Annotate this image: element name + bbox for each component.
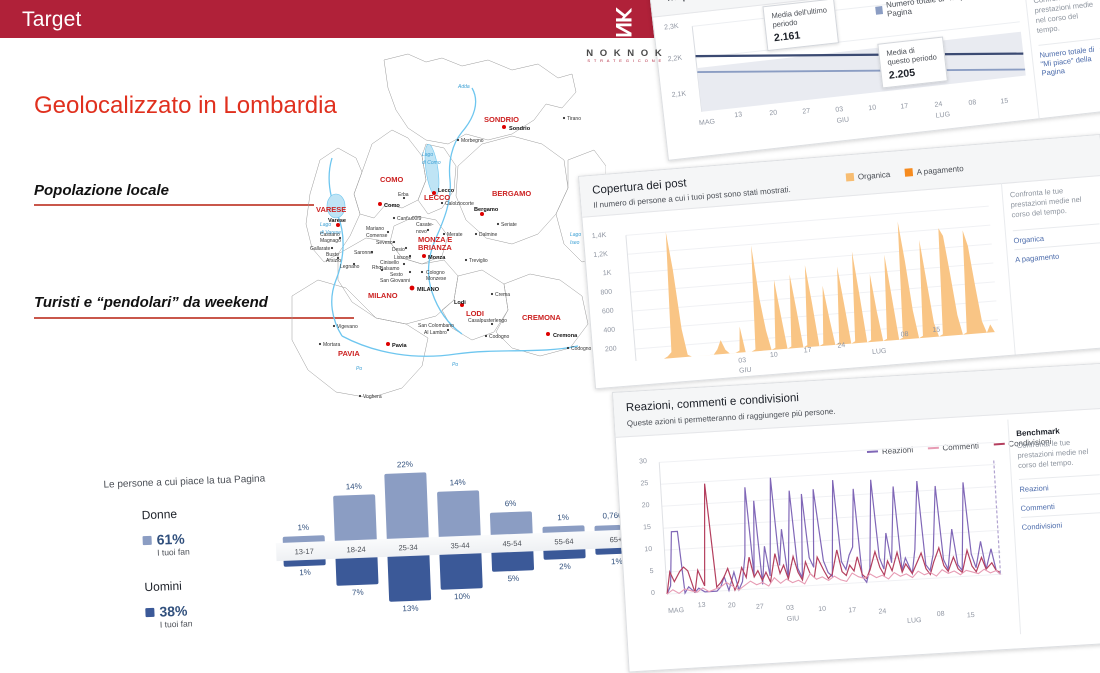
bar-donne-35-44 — [437, 490, 481, 537]
svg-text:Pavia: Pavia — [392, 343, 408, 349]
map-town-arsizio: Arsizio — [326, 258, 341, 264]
map-town-casatenovo2: novo — [416, 229, 427, 235]
svg-text:Crema: Crema — [495, 292, 510, 298]
map-town-saronno: Saronno — [354, 250, 373, 256]
reach-ytick-1400: 1,4K — [592, 232, 607, 240]
reactions-benchmark-text: Confronta le tue prestazioni medie nel c… — [1017, 436, 1100, 471]
svg-text:Monzese: Monzese — [426, 276, 447, 282]
likes-xtick-13: 13 — [734, 111, 743, 119]
map-city-bergamo: Bergamo — [474, 207, 499, 216]
card-total-likes: "Mi piace" totali della Pagina a oggi: 2… — [648, 0, 1100, 161]
bar-donne-18-24 — [333, 494, 377, 541]
bar-uomini-55-64 — [543, 549, 585, 560]
svg-text:Casate-: Casate- — [416, 222, 434, 228]
demographics-title: Le persone a cui piace la tua Pagina — [103, 473, 265, 490]
map-town-codogno: Codogno — [485, 334, 510, 340]
reach-xtick-08: 08 — [901, 331, 909, 339]
reactions-ytick-15: 15 — [643, 524, 651, 531]
map-label-adda: Adda — [457, 84, 470, 90]
reach-xtick-24: 24 — [837, 342, 845, 350]
label-donne-35-44: 14% — [437, 477, 479, 488]
map-town-magnago: Magnago — [320, 238, 341, 244]
age-tick-55-64: 55-64 — [543, 536, 585, 547]
map-town-treviglio: Treviglio — [465, 258, 488, 264]
svg-text:Dalmine: Dalmine — [479, 232, 498, 238]
map-town-legnano: Legnano — [340, 263, 360, 270]
label-donne-18-24: 14% — [333, 481, 375, 492]
reach-ytick-1200: 1,2K — [593, 251, 608, 259]
label-uomini-18-24: 7% — [337, 587, 379, 598]
reactions-benchmark-panel: Benchmark Confronta le tue prestazioni m… — [1007, 414, 1100, 634]
map-label-po-2: Po — [452, 362, 458, 368]
svg-text:Morbegno: Morbegno — [461, 138, 484, 144]
map-town-sangiovanni: San Giovanni — [380, 278, 410, 284]
page-title: Target — [22, 8, 82, 32]
reactions-chart: 30 25 20 15 10 5 0 MAG 13 20 27 03 GIU 1… — [624, 420, 1008, 657]
reach-benchmark-panel: Confronta le tue prestazioni medie nel c… — [1001, 175, 1100, 355]
label-uomini-13-17: 1% — [284, 567, 326, 578]
reach-ytick-600: 600 — [602, 308, 614, 316]
province-sondrio — [384, 54, 576, 144]
label-uomini-35-44: 10% — [441, 591, 483, 602]
map-label-varese: VARESE — [316, 205, 346, 214]
map-label-lodi: LODI — [466, 309, 484, 318]
map-town-monzese: Monzese — [426, 276, 447, 282]
map-label-cremona: CREMONA — [522, 313, 561, 322]
reactions-benchmark-row-reazioni-label: Reazioni — [1019, 484, 1049, 495]
age-tick-35-44: 35-44 — [439, 540, 481, 551]
likes-benchmark-row-0[interactable]: Numero totale di "Mi piace" della Pagina… — [1038, 37, 1100, 81]
likes-legend-swatch — [875, 6, 883, 15]
svg-text:Treviglio: Treviglio — [469, 258, 488, 264]
label-uomini-25-34: 13% — [389, 603, 431, 614]
reach-ytick-200: 200 — [605, 345, 617, 353]
map-town-tirano: Tirano — [563, 116, 581, 122]
age-tick-25-34: 25-34 — [387, 542, 429, 553]
map-city-milano: MILANO — [410, 286, 440, 293]
reach-benchmark-row-pagamento-label: A pagamento — [1015, 252, 1060, 265]
bar-donne-45-54 — [490, 511, 533, 535]
label-donne-25-34: 22% — [384, 459, 426, 470]
tooltip-media-ultimo-periodo: Media dell'ultimo periodo 2.161 — [762, 0, 839, 51]
legend-donne: Donne 61% I tuoi fan — [141, 506, 189, 558]
reactions-benchmark-row-condivisioni[interactable]: Condivisioni — [1021, 513, 1100, 537]
reactions-benchmark-row-condivisioni-label: Condivisioni — [1022, 521, 1063, 532]
map-town-sesto: Sesto — [390, 271, 411, 278]
svg-text:Varese: Varese — [328, 218, 346, 224]
label-donne-13-17: 1% — [282, 522, 324, 533]
map-town-calolziocorte: Calolziocorte — [441, 201, 474, 207]
likes-xtick-24: 24 — [934, 101, 943, 109]
map-town-seveso: Seveso — [376, 240, 395, 246]
reactions-xtick-17: 17 — [848, 607, 856, 614]
legend-uomini-label: Uomini — [144, 578, 191, 594]
map-label-milano: MILANO — [368, 291, 398, 300]
map-city-cremona: Cremona — [546, 332, 578, 339]
svg-text:Codogno: Codogno — [489, 334, 510, 340]
callout-rule-1 — [34, 204, 314, 206]
reach-benchmark-row-organica-label: Organica — [1013, 234, 1044, 245]
map-town-desio: Desio — [392, 247, 407, 253]
map-label-po: Po — [356, 366, 362, 372]
callout-popolazione-locale: Popolazione locale — [34, 182, 169, 199]
svg-text:Seriate: Seriate — [501, 222, 517, 228]
brand-logo: NK N O K N O K S T R A T E G I C O N E — [588, 6, 658, 64]
map-town-dalmine: Dalmine — [475, 232, 498, 238]
reactions-xtick-giu: GIU — [787, 615, 800, 623]
legend-uomini-swatch — [145, 608, 154, 617]
card-post-reach: Copertura dei post Il numero di persone … — [578, 134, 1100, 389]
svg-text:Lodi: Lodi — [454, 300, 466, 306]
reactions-ytick-0: 0 — [651, 590, 655, 597]
label-uomini-45-54: 5% — [492, 573, 534, 584]
reactions-benchmark-row-commenti-label: Commenti — [1020, 502, 1055, 513]
age-tick-18-24: 18-24 — [335, 544, 377, 555]
svg-text:novo: novo — [416, 229, 427, 235]
reach-ytick-400: 400 — [603, 327, 615, 335]
map-town-voghera: Voghera — [359, 394, 382, 400]
reactions-xtick-10: 10 — [818, 606, 826, 613]
map-town-crema: Crema — [491, 292, 510, 298]
map-town-vigevano: Vigevano — [333, 324, 358, 330]
svg-text:Lecco: Lecco — [438, 188, 455, 194]
likes-xtick-17: 17 — [900, 103, 909, 111]
map-city-monza: Monza — [422, 254, 446, 261]
svg-text:Sondrio: Sondrio — [509, 126, 531, 132]
bar-uomini-18-24 — [336, 557, 379, 586]
legend-uomini-sub: I tuoi fan — [160, 618, 193, 629]
bar-uomini-45-54 — [491, 551, 534, 572]
tooltip-media-questo-periodo: Media di questo periodo 2.205 — [877, 36, 948, 88]
reactions-ytick-20: 20 — [642, 502, 650, 509]
reactions-xtick-13: 13 — [698, 602, 706, 609]
svg-text:MILANO: MILANO — [417, 287, 440, 293]
reach-legend-label-pagamento: A pagamento — [916, 164, 964, 177]
likes-xtick-giu: GIU — [836, 116, 849, 124]
svg-text:Saronno: Saronno — [354, 250, 373, 256]
svg-text:Vigevano: Vigevano — [337, 324, 358, 330]
lombardia-map: .pl{font-family:"Liberation Sans",sans-s… — [276, 48, 606, 438]
map-town-codogno2: Codogno — [567, 346, 592, 352]
svg-text:Calolziocorte: Calolziocorte — [445, 201, 474, 207]
legend-donne-swatch — [143, 536, 152, 545]
map-city-como: Como — [378, 202, 400, 209]
map-label-monza-2: BRIANZA — [418, 243, 452, 252]
label-donne-55-64: 1% — [542, 512, 584, 523]
map-town-morbegno: Morbegno — [457, 138, 484, 144]
map-town-casalpusterlengo: Casalpusterlengo — [468, 318, 507, 325]
callout-turisti-pendolari: Turisti e “pendolari” da weekend — [34, 294, 268, 311]
reactions-xtick-20: 20 — [728, 602, 736, 609]
bar-uomini-35-44 — [439, 553, 482, 590]
reach-legend-label-organica: Organica — [858, 169, 891, 181]
reactions-ytick-25: 25 — [640, 480, 648, 487]
reactions-xtick-27: 27 — [756, 603, 764, 610]
likes-benchmark-text: Confronta le tue prestazioni medie nel c… — [1033, 0, 1100, 36]
svg-text:Magnago: Magnago — [320, 238, 341, 244]
map-label-bergamo: BERGAMO — [492, 189, 531, 198]
age-tick-45-54: 45-54 — [491, 538, 533, 549]
reach-xtick-giu: GIU — [739, 367, 752, 375]
svg-text:Mortara: Mortara — [323, 342, 340, 348]
label-donne-45-54: 6% — [489, 498, 531, 509]
map-label-lago-di-como-2: di Como — [422, 160, 441, 166]
reactions-xtick-mag: MAG — [668, 607, 684, 615]
reactions-ytick-5: 5 — [650, 568, 654, 575]
card-reactions: Reazioni, commenti e condivisioni Queste… — [612, 363, 1100, 673]
map-label-lago-iseo-2: Iseo — [570, 240, 580, 246]
map-label-como: COMO — [380, 175, 403, 184]
reach-benchmark-text: Confronta le tue prestazioni medie nel c… — [1010, 183, 1099, 220]
reactions-xtick-03: 03 — [786, 605, 794, 612]
bar-donne-25-34 — [384, 472, 428, 539]
svg-text:Codogno: Codogno — [571, 346, 592, 352]
map-label-sondrio: SONDRIO — [484, 115, 519, 124]
reach-ytick-800: 800 — [600, 289, 612, 297]
svg-text:Rho: Rho — [372, 265, 381, 271]
likes-xtick-15: 15 — [1000, 98, 1009, 106]
reactions-xtick-08: 08 — [937, 611, 945, 618]
bar-uomini-25-34 — [387, 555, 431, 602]
reach-xtick-03: 03 — [738, 357, 746, 365]
likes-xtick-20: 20 — [769, 109, 778, 117]
map-label-lago-iseo: Lago — [570, 232, 581, 238]
svg-text:Monza: Monza — [428, 255, 446, 261]
svg-text:Comense: Comense — [366, 233, 388, 239]
logo-mark: NK — [612, 8, 634, 38]
label-uomini-55-64: 2% — [544, 561, 586, 572]
reactions-xtick-lug: LUG — [907, 617, 922, 625]
province-lodi — [442, 270, 508, 340]
reach-legend: Organica A pagamento — [845, 158, 974, 186]
reactions-ytick-10: 10 — [644, 546, 652, 553]
svg-text:Cremona: Cremona — [553, 333, 578, 339]
likes-xtick-27: 27 — [802, 108, 811, 116]
map-label-pavia: PAVIA — [338, 349, 360, 358]
legend-donne-label: Donne — [141, 506, 188, 522]
reach-xtick-10: 10 — [770, 352, 778, 360]
reach-xtick-15: 15 — [932, 326, 940, 334]
svg-text:San Giovanni: San Giovanni — [380, 278, 410, 284]
legend-uomini: Uomini 38% I tuoi fan — [144, 578, 192, 630]
logo-tagline: S T R A T E G I C O N E — [580, 58, 670, 63]
svg-text:Erba: Erba — [398, 192, 409, 198]
map-town-allambro: Al Lambro — [424, 330, 447, 336]
bar-uomini-13-17 — [284, 559, 326, 567]
map-city-lodi: Lodi — [454, 300, 466, 307]
likes-xtick-08: 08 — [968, 99, 977, 107]
legend-uomini-pct: 38% — [159, 603, 188, 620]
map-town-comense: Comense — [366, 233, 388, 239]
svg-text:Arsizio: Arsizio — [326, 258, 341, 264]
map-town-seriate: Seriate — [497, 222, 517, 228]
svg-text:Desio: Desio — [392, 247, 405, 253]
page-likes-demographics: Le persone a cui piace la tua Pagina Don… — [95, 451, 662, 662]
svg-text:Merate: Merate — [447, 232, 463, 238]
svg-text:Bergamo: Bergamo — [474, 207, 499, 213]
total-likes-chart: 2,3K 2,2K 2,1K MAG 13 20 27 03 GIU 10 17… — [661, 0, 1035, 159]
reach-legend-swatch-organica — [846, 173, 855, 182]
legend-donne-sub: I tuoi fan — [157, 546, 190, 557]
reactions-xtick-15: 15 — [967, 612, 975, 619]
svg-text:Tirano: Tirano — [567, 116, 581, 122]
province-pavia — [292, 280, 428, 398]
map-city-pavia: Pavia — [386, 342, 408, 349]
svg-text:Casalpusterlengo: Casalpusterlengo — [468, 318, 507, 324]
reactions-ytick-30: 30 — [639, 458, 647, 465]
post-reach-chart: 1,4K 1,2K 1K 800 600 400 200 03 GIU 10 1… — [590, 184, 1003, 388]
svg-text:Al Lambro: Al Lambro — [424, 330, 447, 336]
age-tick-13-17: 13-17 — [283, 546, 325, 557]
map-town-erba: Erba — [398, 192, 409, 199]
reach-ytick-1000: 1K — [603, 270, 612, 278]
svg-text:Como: Como — [384, 203, 400, 209]
svg-text:Seveso: Seveso — [376, 240, 393, 246]
map-label-lago-di-como: Lago — [422, 152, 433, 158]
svg-text:Voghera: Voghera — [363, 394, 382, 400]
legend-donne-pct: 61% — [156, 531, 185, 548]
reach-legend-swatch-pagamento — [904, 168, 913, 177]
likes-benchmark-panel: Benchmark Confronta le tue prestazioni m… — [1023, 0, 1100, 118]
likes-benchmark-row-0-label: Numero totale di "Mi piace" della Pagina — [1039, 44, 1095, 77]
svg-text:San Colombano: San Colombano — [418, 323, 454, 329]
svg-text:Legnano: Legnano — [340, 264, 360, 270]
reactions-xtick-24: 24 — [878, 608, 886, 615]
map-town-mortara: Mortara — [319, 342, 341, 348]
likes-xtick-10: 10 — [868, 104, 877, 112]
map-city-sondrio: Sondrio — [502, 125, 531, 132]
svg-text:Mariano: Mariano — [366, 226, 384, 232]
reach-xtick-lug: LUG — [872, 348, 887, 356]
likes-xtick-03: 03 — [835, 106, 844, 114]
reach-xtick-17: 17 — [803, 347, 811, 355]
